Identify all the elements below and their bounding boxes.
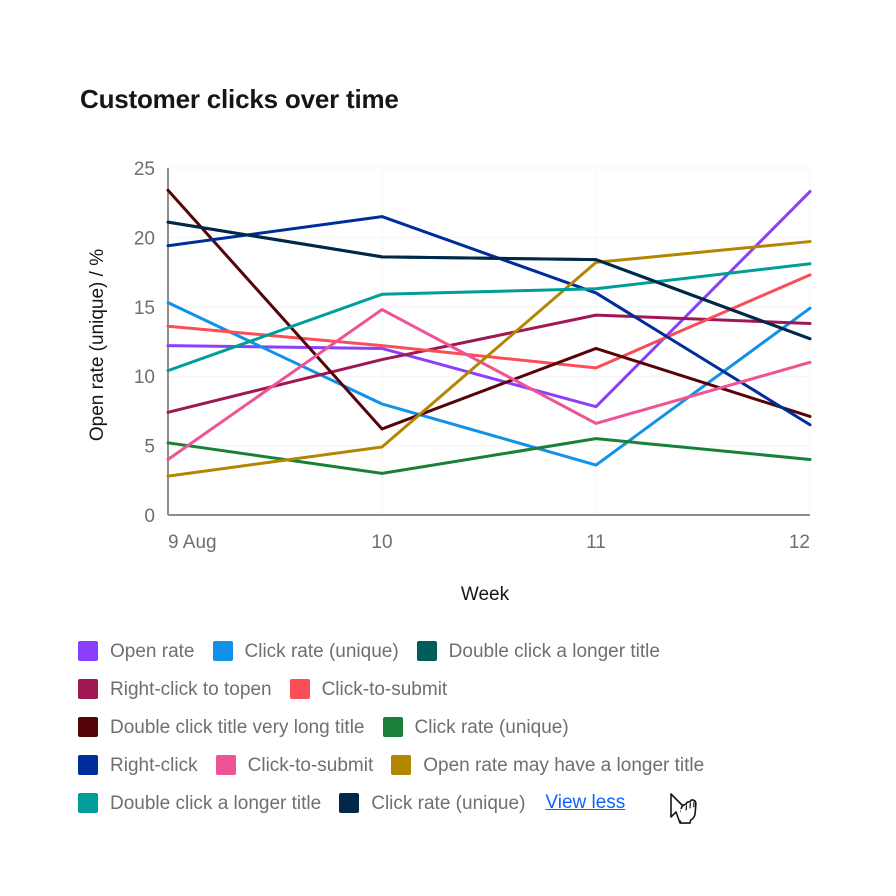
x-tick-label: 10	[371, 532, 392, 553]
legend-item-label: Open rate may have a longer title	[423, 756, 704, 775]
legend-item-label: Click rate (unique)	[371, 794, 525, 813]
gridlines	[168, 168, 810, 515]
x-tick-labels: 9 Aug101112	[168, 532, 810, 553]
y-axis-title: Open rate (unique) / %	[87, 249, 108, 441]
legend-row: Double click a longer titleClick rate (u…	[78, 784, 878, 822]
y-tick-label: 20	[134, 228, 155, 249]
y-tick-labels: 0510152025	[134, 159, 155, 527]
series-line[interactable]	[168, 192, 810, 407]
page-title: Customer clicks over time	[80, 84, 399, 115]
series-line[interactable]	[168, 303, 810, 465]
y-tick-label: 10	[134, 367, 155, 388]
legend-color-swatch	[78, 679, 98, 699]
legend-item-label: Right-click	[110, 756, 198, 775]
series-line[interactable]	[168, 264, 810, 371]
legend-item-label: Double click a longer title	[449, 642, 660, 661]
legend-color-swatch	[417, 641, 437, 661]
series-line[interactable]	[168, 217, 810, 425]
legend-row: Open rateClick rate (unique)Double click…	[78, 632, 878, 670]
legend-item-label: Click rate (unique)	[415, 718, 569, 737]
legend-row: Right-click to topenClick-to-submit	[78, 670, 878, 708]
legend-item-label: Double click a longer title	[110, 794, 321, 813]
legend-color-swatch	[78, 755, 98, 775]
legend-item-label: Double click title very long title	[110, 718, 365, 737]
legend-item-label: Click-to-submit	[248, 756, 374, 775]
series-line[interactable]	[168, 310, 810, 460]
legend-row: Double click title very long titleClick …	[78, 708, 878, 746]
legend-color-swatch	[78, 793, 98, 813]
series-line[interactable]	[168, 222, 810, 339]
legend-item[interactable]: Click rate (unique)	[383, 717, 569, 737]
series-line[interactable]	[168, 242, 810, 477]
chart-legend: Open rateClick rate (unique)Double click…	[78, 632, 878, 822]
legend-item-label: Open rate	[110, 642, 195, 661]
legend-color-swatch	[383, 717, 403, 737]
legend-color-swatch	[78, 717, 98, 737]
legend-item[interactable]: Right-click to topen	[78, 679, 272, 699]
x-axis-title: Week	[461, 584, 510, 605]
legend-item[interactable]: Click rate (unique)	[339, 793, 525, 813]
series-line[interactable]	[168, 222, 810, 339]
legend-item[interactable]: Double click a longer title	[417, 641, 660, 661]
legend-item[interactable]: Click-to-submit	[216, 755, 374, 775]
legend-item-label: Click-to-submit	[322, 680, 448, 699]
y-tick-label: 5	[144, 437, 155, 458]
series-line[interactable]	[168, 315, 810, 412]
y-tick-label: 25	[134, 159, 155, 180]
y-tick-label: 0	[144, 506, 155, 527]
legend-color-swatch	[391, 755, 411, 775]
axis-lines	[168, 168, 810, 515]
y-tick-label: 15	[134, 298, 155, 319]
series-line[interactable]	[168, 190, 810, 429]
legend-color-swatch	[78, 641, 98, 661]
x-tick-label: 9 Aug	[168, 532, 217, 553]
view-less-link[interactable]: View less	[545, 792, 625, 814]
x-tick-label: 12	[789, 532, 810, 553]
legend-item[interactable]: Right-click	[78, 755, 198, 775]
x-tick-label: 11	[586, 532, 606, 553]
legend-item[interactable]: Double click a longer title	[78, 793, 321, 813]
data-lines	[168, 190, 810, 476]
series-line[interactable]	[168, 275, 810, 368]
legend-color-swatch	[290, 679, 310, 699]
chart-page: Customer clicks over time 0510152025 9 A…	[0, 0, 896, 896]
legend-color-swatch	[339, 793, 359, 813]
series-line[interactable]	[168, 439, 810, 474]
legend-item[interactable]: Double click title very long title	[78, 717, 365, 737]
legend-item[interactable]: Open rate	[78, 641, 195, 661]
legend-color-swatch	[213, 641, 233, 661]
legend-item[interactable]: Click-to-submit	[290, 679, 448, 699]
legend-row: Right-clickClick-to-submitOpen rate may …	[78, 746, 878, 784]
legend-item[interactable]: Click rate (unique)	[213, 641, 399, 661]
legend-color-swatch	[216, 755, 236, 775]
legend-item-label: Click rate (unique)	[245, 642, 399, 661]
legend-item-label: Right-click to topen	[110, 680, 272, 699]
legend-item[interactable]: Open rate may have a longer title	[391, 755, 704, 775]
